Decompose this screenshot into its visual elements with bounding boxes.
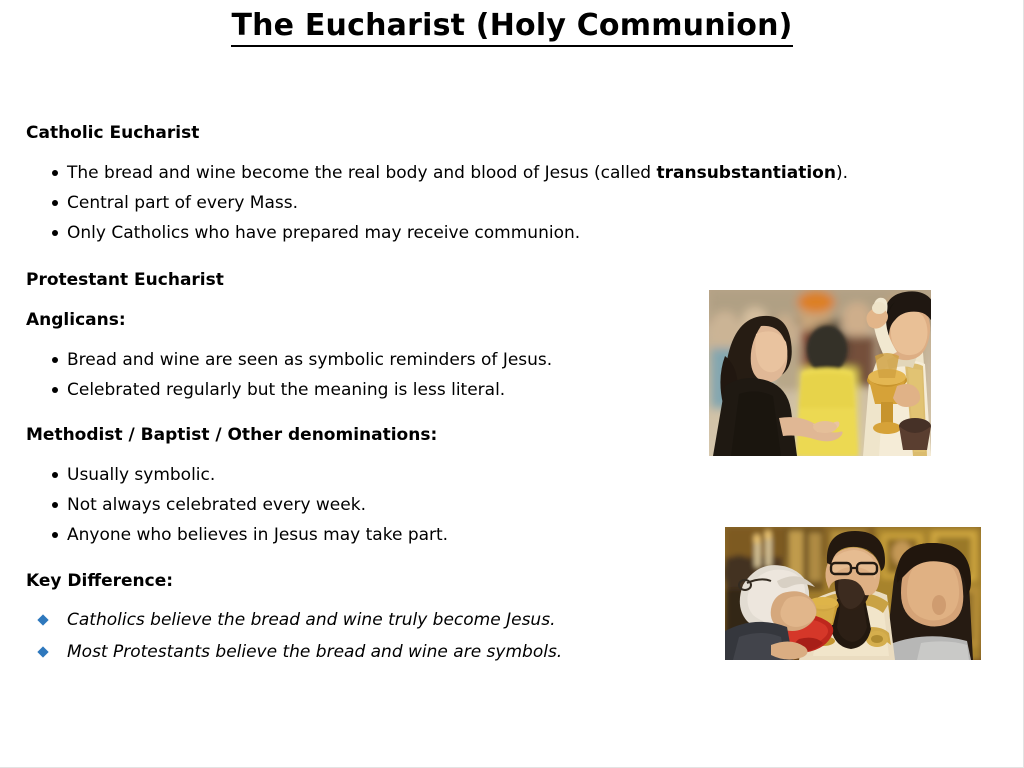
bullet-text-pre: The bread and wine become the real body … [67, 163, 657, 183]
heading-anglicans: Anglicans: [26, 309, 686, 331]
bullet-text-post: ). [836, 163, 848, 183]
bullet-dot-icon [52, 230, 58, 236]
bullet-diamond-icon [37, 646, 48, 657]
bullet-list-anglican: Bread and wine are seen as symbolic remi… [26, 345, 686, 405]
bullet-text: Not always celebrated every week. [67, 495, 366, 515]
bullet-text: Only Catholics who have prepared may rec… [67, 223, 580, 243]
slide-body: Catholic Eucharist The bread and wine be… [26, 122, 686, 668]
list-item: Not always celebrated every week. [26, 490, 686, 520]
photo-communion-catholic-art [709, 290, 931, 456]
list-item: Bread and wine are seen as symbolic remi… [26, 345, 686, 375]
list-item: Anyone who believes in Jesus may take pa… [26, 520, 686, 550]
page-title-text: The Eucharist (Holy Communion) [231, 8, 792, 47]
bullet-dot-icon [52, 387, 58, 393]
photo-communion-orthodox [725, 527, 981, 660]
bullet-text: Usually symbolic. [67, 465, 215, 485]
heading-catholic-eucharist: Catholic Eucharist [26, 122, 686, 144]
list-item: The bread and wine become the real body … [26, 158, 686, 188]
bullet-dot-icon [52, 532, 58, 538]
list-item: Catholics believe the bread and wine tru… [26, 604, 686, 636]
photo-communion-catholic [709, 290, 931, 456]
bullet-dot-icon [52, 170, 58, 176]
bullet-text: Most Protestants believe the bread and w… [67, 642, 562, 662]
list-item: Central part of every Mass. [26, 188, 686, 218]
bullet-text: Celebrated regularly but the meaning is … [67, 380, 505, 400]
bullet-dot-icon [52, 502, 58, 508]
bullet-dot-icon [52, 357, 58, 363]
bullet-text: Anyone who believes in Jesus may take pa… [67, 525, 448, 545]
photo-communion-orthodox-art [725, 527, 981, 660]
bullet-dot-icon [52, 200, 58, 206]
heading-protestant-eucharist: Protestant Eucharist [26, 269, 686, 291]
bullet-text: Catholics believe the bread and wine tru… [67, 610, 555, 630]
heading-methodist-baptist-other: Methodist / Baptist / Other denomination… [26, 424, 686, 446]
bullet-list-key-difference: Catholics believe the bread and wine tru… [26, 604, 686, 668]
bullet-list-methodist: Usually symbolic. Not always celebrated … [26, 460, 686, 550]
slide: The Eucharist (Holy Communion) Catholic … [0, 0, 1024, 768]
bullet-text: Central part of every Mass. [67, 193, 298, 213]
bullet-dot-icon [52, 472, 58, 478]
list-item: Celebrated regularly but the meaning is … [26, 375, 686, 405]
list-item: Most Protestants believe the bread and w… [26, 636, 686, 668]
bullet-diamond-icon [37, 614, 48, 625]
heading-key-difference: Key Difference: [26, 570, 686, 592]
bullet-text: Bread and wine are seen as symbolic remi… [67, 350, 552, 370]
bullet-text-bold: transubstantiation [657, 163, 836, 183]
list-item: Usually symbolic. [26, 460, 686, 490]
list-item: Only Catholics who have prepared may rec… [26, 218, 686, 248]
page-title: The Eucharist (Holy Communion) [0, 8, 1024, 43]
bullet-list-catholic: The bread and wine become the real body … [26, 158, 686, 248]
